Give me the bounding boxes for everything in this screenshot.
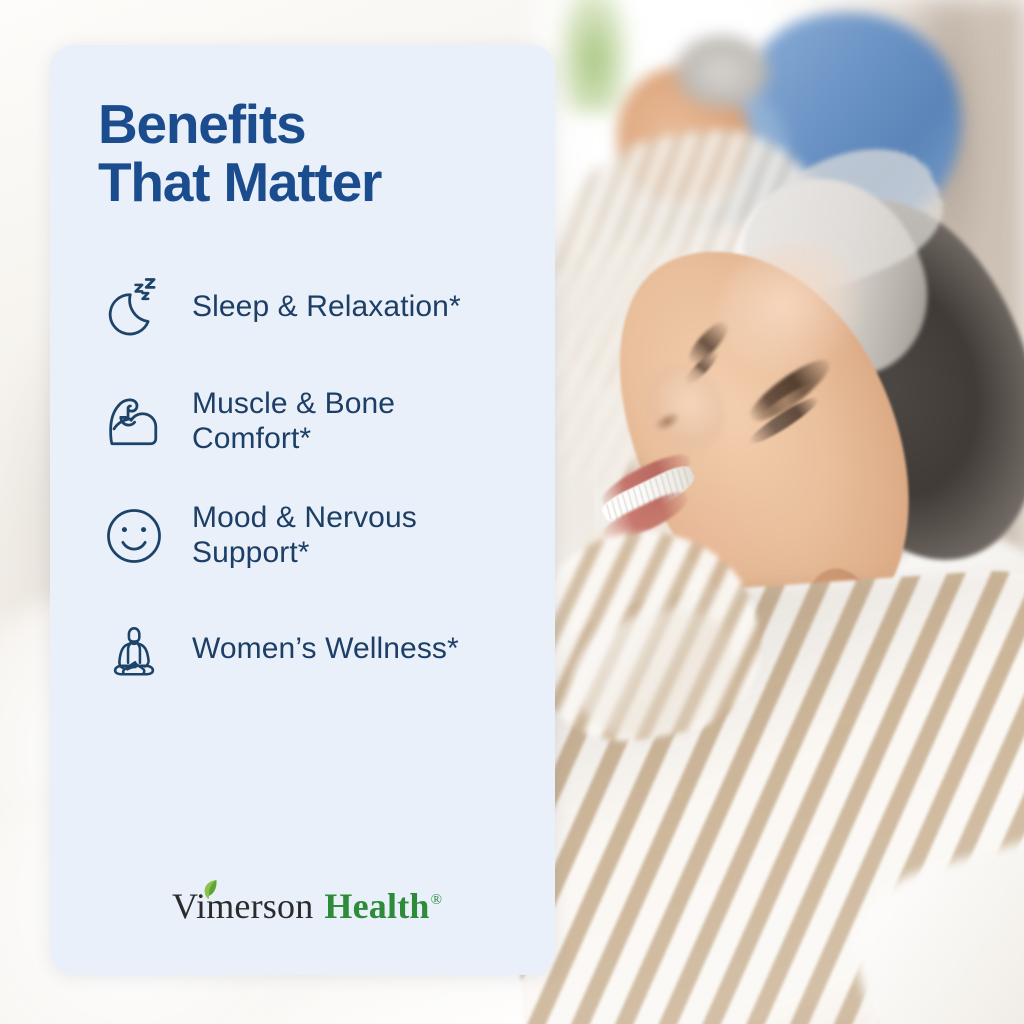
benefit-item-muscle: Muscle & Bone Comfort* (98, 370, 515, 474)
logo-word-health: Health (324, 885, 429, 927)
benefit-item-mood: Mood & Nervous Support* (98, 484, 515, 588)
registered-trademark-icon: ® (431, 892, 442, 909)
page-title: Benefits That Matter (98, 95, 515, 212)
brand-logo: Vimerson Health ® (98, 885, 515, 975)
benefit-label-womens-wellness: Women’s Wellness* (192, 632, 459, 667)
blurred-plant (558, 0, 630, 113)
meditation-lotus-icon (98, 614, 170, 686)
benefit-label-muscle: Muscle & Bone Comfort* (192, 387, 395, 457)
benefits-card: Benefits That Matter Sleep & Relaxation* (50, 45, 555, 975)
benefit-label-mood: Mood & Nervous Support* (192, 501, 417, 571)
benefit-item-sleep: Sleep & Relaxation* (98, 256, 515, 360)
logo-word-vimerson: Vimerson (172, 885, 313, 927)
benefit-item-womens-wellness: Women’s Wellness* (98, 598, 515, 702)
green-leaf-icon (202, 879, 219, 901)
moon-zzz-icon (98, 272, 170, 344)
background-man-hair (676, 36, 768, 108)
smiley-face-icon (98, 500, 170, 572)
flexed-bicep-icon (98, 386, 170, 458)
benefit-label-sleep: Sleep & Relaxation* (192, 290, 461, 325)
benefits-list: Sleep & Relaxation* Muscle & Bone Comfor… (98, 256, 515, 702)
